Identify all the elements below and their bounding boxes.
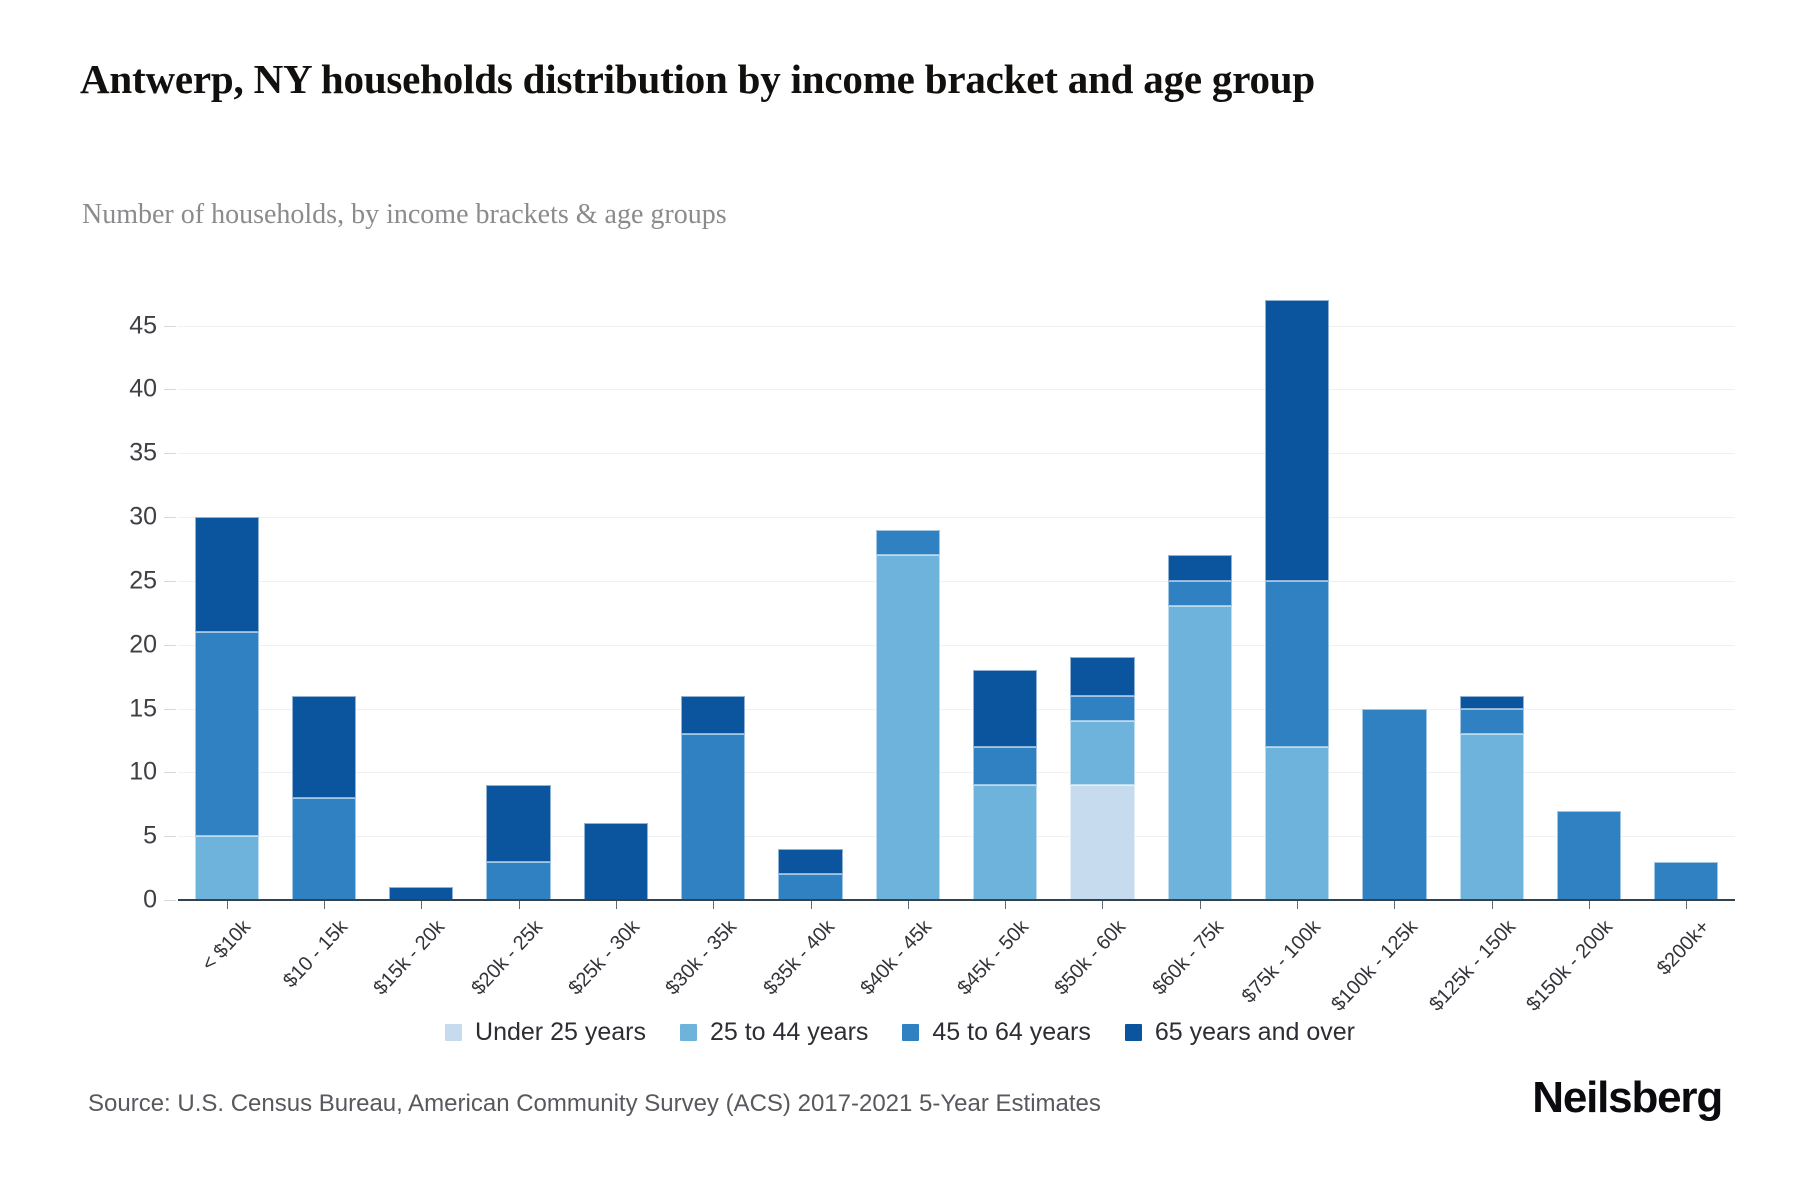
legend-swatch-icon bbox=[1125, 1024, 1142, 1041]
bar-stack[interactable] bbox=[973, 670, 1037, 900]
gridline bbox=[178, 453, 1735, 454]
bar-stack[interactable] bbox=[486, 785, 550, 900]
gridline bbox=[178, 389, 1735, 390]
legend-swatch-icon bbox=[445, 1024, 462, 1041]
x-axis-tick-mark bbox=[1200, 901, 1201, 909]
bar-segment[interactable] bbox=[292, 798, 356, 900]
y-axis-tick-mark bbox=[164, 389, 176, 390]
bar-segment[interactable] bbox=[778, 849, 842, 875]
y-axis-tick-mark bbox=[164, 453, 176, 454]
x-axis-tick-label: $100k - 125k bbox=[1328, 916, 1424, 1016]
x-axis-tick-label: $150k - 200k bbox=[1522, 916, 1618, 1016]
x-axis-tick-mark bbox=[713, 901, 714, 909]
bar-segment[interactable] bbox=[1168, 555, 1232, 581]
legend-label: 25 to 44 years bbox=[710, 1018, 868, 1047]
legend-item[interactable]: 25 to 44 years bbox=[680, 1018, 868, 1047]
bar-segment[interactable] bbox=[1168, 606, 1232, 900]
x-axis-tick-mark bbox=[519, 901, 520, 909]
bar-stack[interactable] bbox=[1557, 811, 1621, 900]
chart-subtitle: Number of households, by income brackets… bbox=[82, 198, 1382, 232]
x-axis-tick-mark bbox=[908, 901, 909, 909]
bar-stack[interactable] bbox=[1362, 709, 1426, 900]
y-axis-tick-label: 30 bbox=[129, 503, 157, 532]
bar-stack[interactable] bbox=[195, 517, 259, 900]
bar-segment[interactable] bbox=[1654, 862, 1718, 900]
y-axis-tick-label: 10 bbox=[129, 758, 157, 787]
chart-page: Antwerp, NY households distribution by i… bbox=[0, 0, 1800, 1200]
x-axis-tick-mark bbox=[1492, 901, 1493, 909]
x-axis-line bbox=[178, 899, 1735, 901]
x-axis-tick-label: $50k - 60k bbox=[1051, 916, 1132, 1000]
y-axis-tick-mark bbox=[164, 900, 176, 901]
bar-segment[interactable] bbox=[1557, 811, 1621, 900]
legend-item[interactable]: 65 years and over bbox=[1125, 1018, 1355, 1047]
x-axis-tick-mark bbox=[324, 901, 325, 909]
x-axis-tick-mark bbox=[421, 901, 422, 909]
x-axis-tick-label: $45k - 50k bbox=[953, 916, 1034, 1000]
y-axis-tick-mark bbox=[164, 326, 176, 327]
page-title: Antwerp, NY households distribution by i… bbox=[80, 54, 1600, 105]
y-axis-tick-label: 20 bbox=[129, 630, 157, 659]
bar-segment[interactable] bbox=[1070, 721, 1134, 785]
bar-segment[interactable] bbox=[681, 696, 745, 734]
bar-stack[interactable] bbox=[778, 849, 842, 900]
x-axis-tick-label: $15k - 20k bbox=[370, 916, 451, 1000]
legend-label: 65 years and over bbox=[1155, 1018, 1355, 1047]
legend-label: Under 25 years bbox=[475, 1018, 646, 1047]
bar-segment[interactable] bbox=[1070, 696, 1134, 722]
bar-stack[interactable] bbox=[1265, 300, 1329, 900]
x-axis-tick-mark bbox=[616, 901, 617, 909]
y-axis-tick-mark bbox=[164, 836, 176, 837]
bar-stack[interactable] bbox=[1168, 555, 1232, 900]
x-axis-tick-label: $20k - 25k bbox=[467, 916, 548, 1000]
bar-segment[interactable] bbox=[1070, 785, 1134, 900]
brand-logo: Neilsberg bbox=[1532, 1073, 1722, 1123]
bar-segment[interactable] bbox=[681, 734, 745, 900]
gridline bbox=[178, 326, 1735, 327]
x-axis-tick-label: $35k - 40k bbox=[759, 916, 840, 1000]
bar-segment[interactable] bbox=[1460, 696, 1524, 709]
bar-segment[interactable] bbox=[195, 632, 259, 836]
bar-stack[interactable] bbox=[681, 696, 745, 900]
y-axis-tick-label: 45 bbox=[129, 311, 157, 340]
bar-segment[interactable] bbox=[1070, 657, 1134, 695]
y-axis-tick-mark bbox=[164, 645, 176, 646]
bar-segment[interactable] bbox=[1265, 581, 1329, 747]
bar-segment[interactable] bbox=[1168, 581, 1232, 607]
y-axis-tick-mark bbox=[164, 772, 176, 773]
legend-item[interactable]: Under 25 years bbox=[445, 1018, 646, 1047]
x-axis-tick-mark bbox=[1394, 901, 1395, 909]
x-axis-tick-label: $60k - 75k bbox=[1148, 916, 1229, 1000]
legend-label: 45 to 64 years bbox=[932, 1018, 1090, 1047]
bar-segment[interactable] bbox=[1460, 709, 1524, 735]
bar-segment[interactable] bbox=[292, 696, 356, 798]
y-axis-tick-mark bbox=[164, 581, 176, 582]
bar-stack[interactable] bbox=[1654, 862, 1718, 900]
x-axis-tick-mark bbox=[227, 901, 228, 909]
x-axis-tick-mark bbox=[1589, 901, 1590, 909]
x-axis-tick-label: $30k - 35k bbox=[662, 916, 743, 1000]
source-note: Source: U.S. Census Bureau, American Com… bbox=[88, 1090, 1101, 1118]
x-axis-tick-mark bbox=[1005, 901, 1006, 909]
gridline bbox=[178, 517, 1735, 518]
bar-segment[interactable] bbox=[195, 517, 259, 632]
bar-segment[interactable] bbox=[486, 785, 550, 862]
y-axis-tick-label: 15 bbox=[129, 694, 157, 723]
x-axis-tick-mark bbox=[1102, 901, 1103, 909]
y-axis-tick-label: 5 bbox=[143, 822, 157, 851]
y-axis-tick-label: 40 bbox=[129, 375, 157, 404]
bar-segment[interactable] bbox=[1265, 300, 1329, 581]
gridline bbox=[178, 581, 1735, 582]
bar-segment[interactable] bbox=[876, 530, 940, 556]
x-axis-tick-label: $125k - 150k bbox=[1425, 916, 1521, 1016]
bar-stack[interactable] bbox=[1070, 657, 1134, 900]
bar-segment[interactable] bbox=[1265, 747, 1329, 900]
y-axis-tick-label: 35 bbox=[129, 439, 157, 468]
bar-segment[interactable] bbox=[486, 862, 550, 900]
legend-item[interactable]: 45 to 64 years bbox=[902, 1018, 1090, 1047]
gridline bbox=[178, 645, 1735, 646]
bar-stack[interactable] bbox=[1460, 696, 1524, 900]
x-axis-tick-mark bbox=[1686, 901, 1687, 909]
bar-stack[interactable] bbox=[292, 696, 356, 900]
legend-swatch-icon bbox=[902, 1024, 919, 1041]
x-axis-tick-label: $10 - 15k bbox=[279, 916, 353, 993]
bar-segment[interactable] bbox=[1460, 734, 1524, 900]
x-axis-tick-label: $75k - 100k bbox=[1238, 916, 1326, 1008]
y-axis-tick-label: 25 bbox=[129, 566, 157, 595]
y-axis-tick-label: 0 bbox=[143, 886, 157, 915]
bar-segment[interactable] bbox=[876, 555, 940, 900]
x-axis-tick-label: $200k+ bbox=[1653, 916, 1715, 980]
bar-stack[interactable] bbox=[584, 823, 648, 900]
bar-segment[interactable] bbox=[584, 823, 648, 900]
x-axis-tick-label: $25k - 30k bbox=[564, 916, 645, 1000]
bar-segment[interactable] bbox=[973, 785, 1037, 900]
x-axis-tick-mark bbox=[811, 901, 812, 909]
legend-swatch-icon bbox=[680, 1024, 697, 1041]
bar-segment[interactable] bbox=[778, 874, 842, 900]
plot-area: 051015202530354045 < $10k$10 - 15k$15k -… bbox=[178, 300, 1735, 900]
x-axis-tick-mark bbox=[1297, 901, 1298, 909]
bar-stack[interactable] bbox=[876, 530, 940, 900]
y-axis-tick-mark bbox=[164, 517, 176, 518]
bar-segment[interactable] bbox=[1362, 709, 1426, 900]
bar-segment[interactable] bbox=[973, 747, 1037, 785]
y-axis-tick-mark bbox=[164, 709, 176, 710]
bar-segment[interactable] bbox=[195, 836, 259, 900]
x-axis-tick-label: < $10k bbox=[197, 916, 255, 976]
chart-legend: Under 25 years25 to 44 years45 to 64 yea… bbox=[0, 1018, 1800, 1047]
bar-segment[interactable] bbox=[973, 670, 1037, 747]
x-axis-tick-label: $40k - 45k bbox=[856, 916, 937, 1000]
